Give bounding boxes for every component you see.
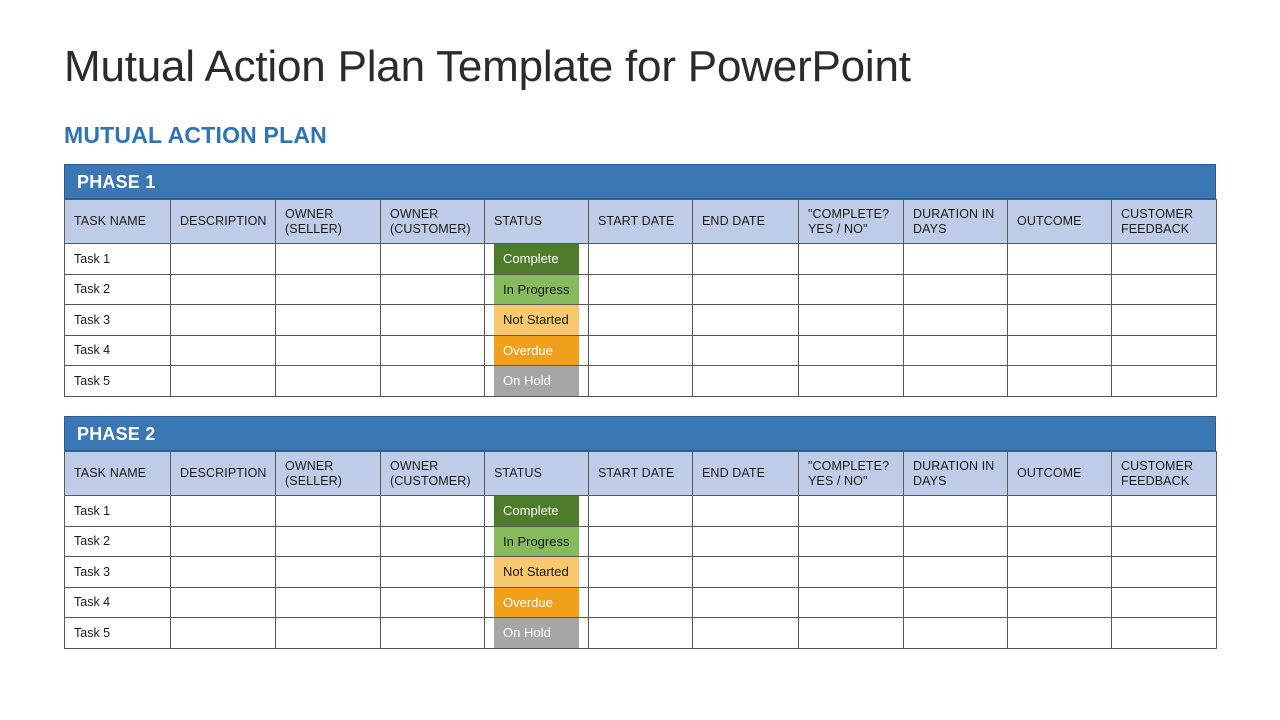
status-badge: Overdue — [494, 588, 579, 618]
column-header-feedback: CUSTOMERFEEDBACK — [1112, 200, 1217, 244]
column-header-line: "COMPLETE? — [808, 459, 894, 474]
cell-duration[interactable] — [904, 557, 1008, 588]
page-title: Mutual Action Plan Template for PowerPoi… — [64, 39, 911, 95]
cell-owner_customer[interactable] — [381, 496, 485, 527]
status-badge: On Hold — [494, 366, 579, 396]
table-row: Task 1Complete — [65, 244, 1217, 275]
cell-owner_customer[interactable] — [381, 244, 485, 275]
task-name-cell[interactable]: Task 4 — [65, 587, 171, 618]
cell-owner_seller[interactable] — [276, 526, 381, 557]
table-header-row: TASK NAMEDESCRIPTIONOWNER(SELLER)OWNER(C… — [65, 200, 1217, 244]
cell-outcome[interactable] — [1008, 496, 1112, 527]
column-header-line: END DATE — [702, 466, 789, 481]
task-name-cell[interactable]: Task 1 — [65, 496, 171, 527]
column-header-line: DAYS — [913, 474, 998, 489]
cell-complete[interactable] — [799, 526, 904, 557]
status-badge: In Progress — [494, 527, 579, 557]
table-row: Task 2In Progress — [65, 526, 1217, 557]
cell-outcome[interactable] — [1008, 244, 1112, 275]
column-header-line: DURATION IN — [913, 459, 998, 474]
status-badge: Complete — [494, 244, 579, 274]
cell-start_date[interactable] — [589, 305, 693, 336]
cell-complete[interactable] — [799, 587, 904, 618]
column-header-line: TASK NAME — [74, 214, 161, 229]
cell-duration[interactable] — [904, 305, 1008, 336]
cell-owner_seller[interactable] — [276, 274, 381, 305]
column-header-description: DESCRIPTION — [171, 452, 276, 496]
cell-owner_customer[interactable] — [381, 305, 485, 336]
column-header-start_date: START DATE — [589, 452, 693, 496]
cell-feedback[interactable] — [1112, 366, 1217, 397]
cell-start_date[interactable] — [589, 274, 693, 305]
cell-outcome[interactable] — [1008, 557, 1112, 588]
cell-description[interactable] — [171, 335, 276, 366]
status-badge: Not Started — [494, 557, 579, 587]
status-cell[interactable]: Overdue — [485, 335, 589, 366]
task-name-cell[interactable]: Task 2 — [65, 274, 171, 305]
column-header-line: OUTCOME — [1017, 214, 1102, 229]
column-header-line: FEEDBACK — [1121, 222, 1207, 237]
cell-outcome[interactable] — [1008, 305, 1112, 336]
column-header-outcome: OUTCOME — [1008, 200, 1112, 244]
task-name-cell[interactable]: Task 4 — [65, 335, 171, 366]
column-header-line: START DATE — [598, 214, 683, 229]
cell-owner_customer[interactable] — [381, 587, 485, 618]
column-header-complete: "COMPLETE?YES / NO" — [799, 452, 904, 496]
cell-owner_customer[interactable] — [381, 274, 485, 305]
cell-end_date[interactable] — [693, 274, 799, 305]
status-badge: Not Started — [494, 305, 579, 335]
status-cell[interactable]: In Progress — [485, 274, 589, 305]
phase-banner: PHASE 1 — [64, 164, 1216, 199]
phase-banner: PHASE 2 — [64, 416, 1216, 451]
column-header-status: STATUS — [485, 452, 589, 496]
cell-complete[interactable] — [799, 366, 904, 397]
table-row: Task 2In Progress — [65, 274, 1217, 305]
status-badge: Complete — [494, 496, 579, 526]
cell-owner_customer[interactable] — [381, 366, 485, 397]
column-header-line: END DATE — [702, 214, 789, 229]
cell-feedback[interactable] — [1112, 618, 1217, 649]
column-header-line: DESCRIPTION — [180, 466, 266, 481]
status-cell[interactable]: In Progress — [485, 526, 589, 557]
column-header-line: CUSTOMER — [1121, 207, 1207, 222]
cell-start_date[interactable] — [589, 557, 693, 588]
column-header-duration: DURATION INDAYS — [904, 200, 1008, 244]
phase-table: TASK NAMEDESCRIPTIONOWNER(SELLER)OWNER(C… — [64, 451, 1217, 649]
cell-duration[interactable] — [904, 244, 1008, 275]
table-row: Task 4Overdue — [65, 587, 1217, 618]
column-header-status: STATUS — [485, 200, 589, 244]
column-header-owner_seller: OWNER(SELLER) — [276, 452, 381, 496]
cell-description[interactable] — [171, 587, 276, 618]
task-name-cell[interactable]: Task 3 — [65, 305, 171, 336]
cell-owner_seller[interactable] — [276, 335, 381, 366]
cell-duration[interactable] — [904, 335, 1008, 366]
cell-feedback[interactable] — [1112, 274, 1217, 305]
cell-owner_seller[interactable] — [276, 366, 381, 397]
cell-end_date[interactable] — [693, 366, 799, 397]
column-header-task_name: TASK NAME — [65, 200, 171, 244]
cell-outcome[interactable] — [1008, 366, 1112, 397]
column-header-line: TASK NAME — [74, 466, 161, 481]
column-header-line: STATUS — [494, 466, 579, 481]
cell-description[interactable] — [171, 618, 276, 649]
task-name-cell[interactable]: Task 2 — [65, 526, 171, 557]
cell-start_date[interactable] — [589, 618, 693, 649]
cell-duration[interactable] — [904, 274, 1008, 305]
column-header-line: (SELLER) — [285, 222, 371, 237]
cell-feedback[interactable] — [1112, 335, 1217, 366]
cell-duration[interactable] — [904, 366, 1008, 397]
cell-owner_seller[interactable] — [276, 496, 381, 527]
cell-end_date[interactable] — [693, 557, 799, 588]
table-row: Task 4Overdue — [65, 335, 1217, 366]
column-header-line: YES / NO" — [808, 222, 894, 237]
section-subtitle: MUTUAL ACTION PLAN — [64, 121, 327, 149]
column-header-duration: DURATION INDAYS — [904, 452, 1008, 496]
table-row: Task 5On Hold — [65, 618, 1217, 649]
column-header-outcome: OUTCOME — [1008, 452, 1112, 496]
cell-description[interactable] — [171, 244, 276, 275]
cell-owner_customer[interactable] — [381, 335, 485, 366]
cell-description[interactable] — [171, 366, 276, 397]
cell-description[interactable] — [171, 557, 276, 588]
phase-banner-label: PHASE 1 — [77, 173, 155, 191]
status-cell[interactable]: Not Started — [485, 557, 589, 588]
cell-duration[interactable] — [904, 618, 1008, 649]
cell-complete[interactable] — [799, 496, 904, 527]
cell-start_date[interactable] — [589, 366, 693, 397]
phase-table: TASK NAMEDESCRIPTIONOWNER(SELLER)OWNER(C… — [64, 199, 1217, 397]
status-badge: In Progress — [494, 275, 579, 305]
column-header-line: "COMPLETE? — [808, 207, 894, 222]
cell-feedback[interactable] — [1112, 587, 1217, 618]
cell-feedback[interactable] — [1112, 496, 1217, 527]
column-header-line: OWNER — [285, 207, 371, 222]
status-cell[interactable]: Complete — [485, 244, 589, 275]
column-header-feedback: CUSTOMERFEEDBACK — [1112, 452, 1217, 496]
cell-duration[interactable] — [904, 496, 1008, 527]
cell-feedback[interactable] — [1112, 557, 1217, 588]
cell-end_date[interactable] — [693, 496, 799, 527]
task-name-cell[interactable]: Task 3 — [65, 557, 171, 588]
cell-complete[interactable] — [799, 305, 904, 336]
cell-owner_customer[interactable] — [381, 557, 485, 588]
column-header-line: DURATION IN — [913, 207, 998, 222]
column-header-description: DESCRIPTION — [171, 200, 276, 244]
column-header-line: (CUSTOMER) — [390, 474, 475, 489]
status-cell[interactable]: Overdue — [485, 587, 589, 618]
cell-feedback[interactable] — [1112, 305, 1217, 336]
cell-complete[interactable] — [799, 557, 904, 588]
task-name-cell[interactable]: Task 5 — [65, 366, 171, 397]
status-cell[interactable]: On Hold — [485, 366, 589, 397]
column-header-line: OUTCOME — [1017, 466, 1102, 481]
column-header-line: FEEDBACK — [1121, 474, 1207, 489]
cell-outcome[interactable] — [1008, 618, 1112, 649]
column-header-owner_customer: OWNER(CUSTOMER) — [381, 452, 485, 496]
column-header-start_date: START DATE — [589, 200, 693, 244]
cell-description[interactable] — [171, 305, 276, 336]
cell-owner_seller[interactable] — [276, 618, 381, 649]
cell-description[interactable] — [171, 274, 276, 305]
cell-outcome[interactable] — [1008, 587, 1112, 618]
cell-start_date[interactable] — [589, 244, 693, 275]
table-row: Task 3Not Started — [65, 305, 1217, 336]
cell-owner_customer[interactable] — [381, 526, 485, 557]
column-header-line: CUSTOMER — [1121, 459, 1207, 474]
column-header-line: (CUSTOMER) — [390, 222, 475, 237]
column-header-task_name: TASK NAME — [65, 452, 171, 496]
status-cell[interactable]: On Hold — [485, 618, 589, 649]
cell-description[interactable] — [171, 496, 276, 527]
cell-owner_seller[interactable] — [276, 557, 381, 588]
status-cell[interactable]: Not Started — [485, 305, 589, 336]
status-badge: Overdue — [494, 336, 579, 366]
cell-complete[interactable] — [799, 244, 904, 275]
cell-start_date[interactable] — [589, 335, 693, 366]
cell-end_date[interactable] — [693, 618, 799, 649]
cell-complete[interactable] — [799, 274, 904, 305]
cell-owner_seller[interactable] — [276, 305, 381, 336]
cell-end_date[interactable] — [693, 587, 799, 618]
cell-outcome[interactable] — [1008, 335, 1112, 366]
cell-end_date[interactable] — [693, 335, 799, 366]
column-header-line: OWNER — [390, 459, 475, 474]
column-header-line: START DATE — [598, 466, 683, 481]
cell-end_date[interactable] — [693, 244, 799, 275]
table-row: Task 3Not Started — [65, 557, 1217, 588]
column-header-line: DESCRIPTION — [180, 214, 266, 229]
cell-duration[interactable] — [904, 587, 1008, 618]
phase-block: PHASE 2TASK NAMEDESCRIPTIONOWNER(SELLER)… — [64, 416, 1216, 649]
cell-outcome[interactable] — [1008, 526, 1112, 557]
slide-canvas: Mutual Action Plan Template for PowerPoi… — [0, 0, 1280, 720]
column-header-end_date: END DATE — [693, 452, 799, 496]
status-cell[interactable]: Complete — [485, 496, 589, 527]
cell-start_date[interactable] — [589, 526, 693, 557]
cell-complete[interactable] — [799, 335, 904, 366]
cell-feedback[interactable] — [1112, 526, 1217, 557]
column-header-complete: "COMPLETE?YES / NO" — [799, 200, 904, 244]
column-header-line: OWNER — [390, 207, 475, 222]
column-header-line: YES / NO" — [808, 474, 894, 489]
cell-start_date[interactable] — [589, 587, 693, 618]
table-header-row: TASK NAMEDESCRIPTIONOWNER(SELLER)OWNER(C… — [65, 452, 1217, 496]
phase-block: PHASE 1TASK NAMEDESCRIPTIONOWNER(SELLER)… — [64, 164, 1216, 397]
cell-start_date[interactable] — [589, 496, 693, 527]
cell-owner_seller[interactable] — [276, 244, 381, 275]
cell-outcome[interactable] — [1008, 274, 1112, 305]
task-name-cell[interactable]: Task 1 — [65, 244, 171, 275]
status-badge: On Hold — [494, 618, 579, 648]
column-header-line: DAYS — [913, 222, 998, 237]
cell-feedback[interactable] — [1112, 244, 1217, 275]
column-header-line: STATUS — [494, 214, 579, 229]
task-name-cell[interactable]: Task 5 — [65, 618, 171, 649]
table-row: Task 5On Hold — [65, 366, 1217, 397]
column-header-end_date: END DATE — [693, 200, 799, 244]
column-header-line: (SELLER) — [285, 474, 371, 489]
phase-banner-label: PHASE 2 — [77, 425, 155, 443]
column-header-line: OWNER — [285, 459, 371, 474]
column-header-owner_seller: OWNER(SELLER) — [276, 200, 381, 244]
cell-owner_seller[interactable] — [276, 587, 381, 618]
cell-end_date[interactable] — [693, 526, 799, 557]
cell-owner_customer[interactable] — [381, 618, 485, 649]
column-header-owner_customer: OWNER(CUSTOMER) — [381, 200, 485, 244]
cell-complete[interactable] — [799, 618, 904, 649]
cell-duration[interactable] — [904, 526, 1008, 557]
cell-end_date[interactable] — [693, 305, 799, 336]
cell-description[interactable] — [171, 526, 276, 557]
table-row: Task 1Complete — [65, 496, 1217, 527]
